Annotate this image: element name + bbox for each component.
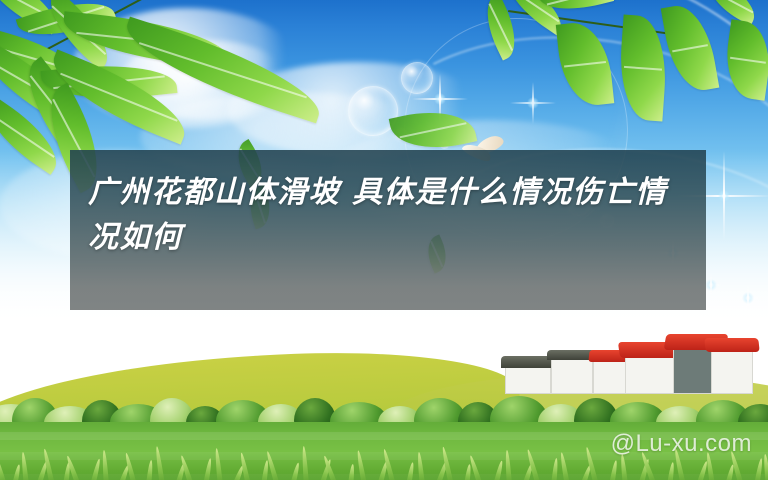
bubble-icon [401, 62, 433, 94]
watermark: @Lu-xu.com [611, 430, 752, 458]
headline-overlay: 广州花都山体滑坡 具体是什么情况伤亡情况如何 [70, 150, 706, 310]
image-canvas: 广州花都山体滑坡 具体是什么情况伤亡情况如何 @Lu-xu.com [0, 0, 768, 480]
roof-red [704, 338, 759, 352]
headline-text: 广州花都山体滑坡 具体是什么情况伤亡情况如何 [88, 170, 694, 260]
